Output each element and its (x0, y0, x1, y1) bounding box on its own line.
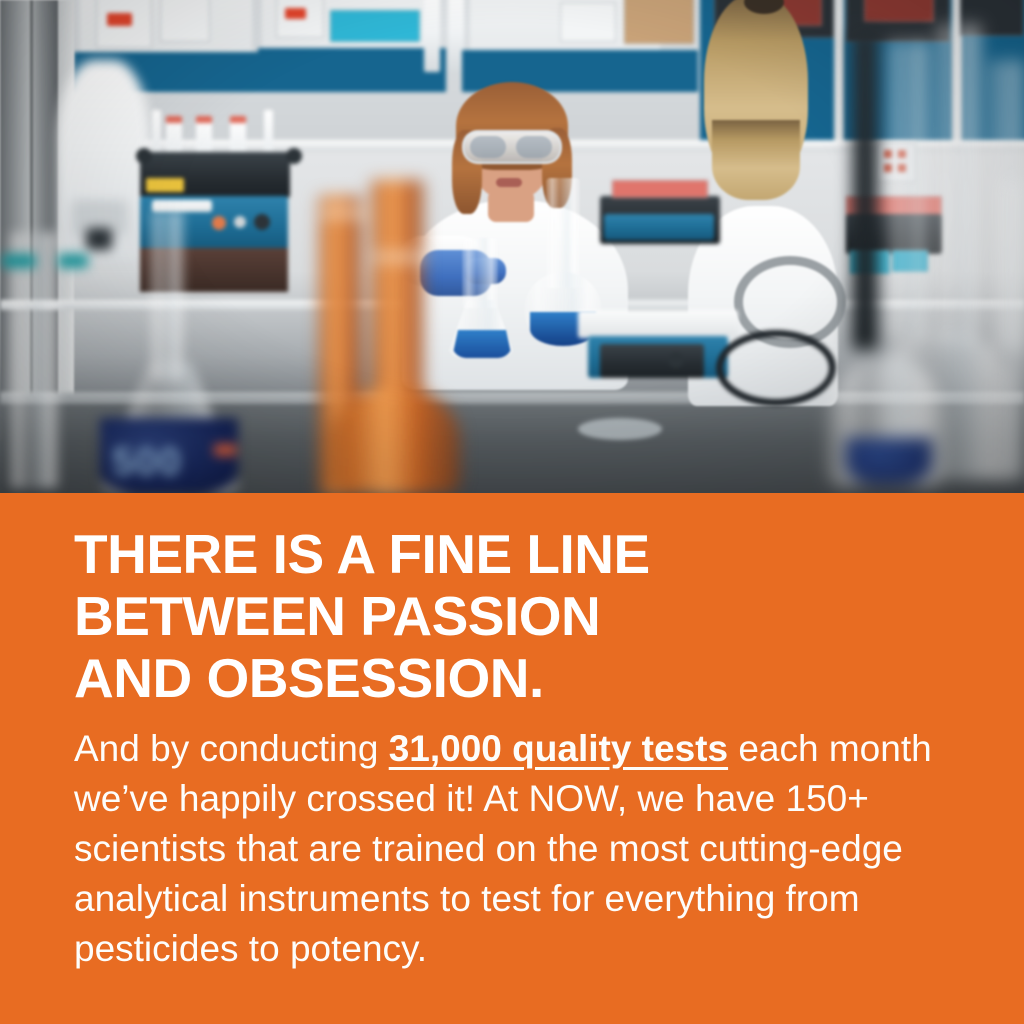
body-stat-quality-tests: 31,000 quality tests (389, 728, 728, 769)
laboratory-photo: 500 (0, 0, 1024, 493)
headline-line-3: AND OBSESSION. (74, 647, 954, 709)
headline-line-1: THERE IS A FINE LINE (74, 523, 954, 585)
body-paragraph: And by conducting 31,000 quality tests e… (74, 724, 954, 974)
headline: THERE IS A FINE LINE BETWEEN PASSION AND… (74, 523, 954, 709)
headline-line-2: BETWEEN PASSION (74, 585, 954, 647)
orange-text-panel: THERE IS A FINE LINE BETWEEN PASSION AND… (0, 493, 1024, 1024)
social-card: 500 THERE IS A FINE LINE BETWEEN PASSION… (0, 0, 1024, 1024)
body-segment-lead: And by conducting (74, 728, 389, 769)
pipette-teal-band (2, 254, 36, 268)
